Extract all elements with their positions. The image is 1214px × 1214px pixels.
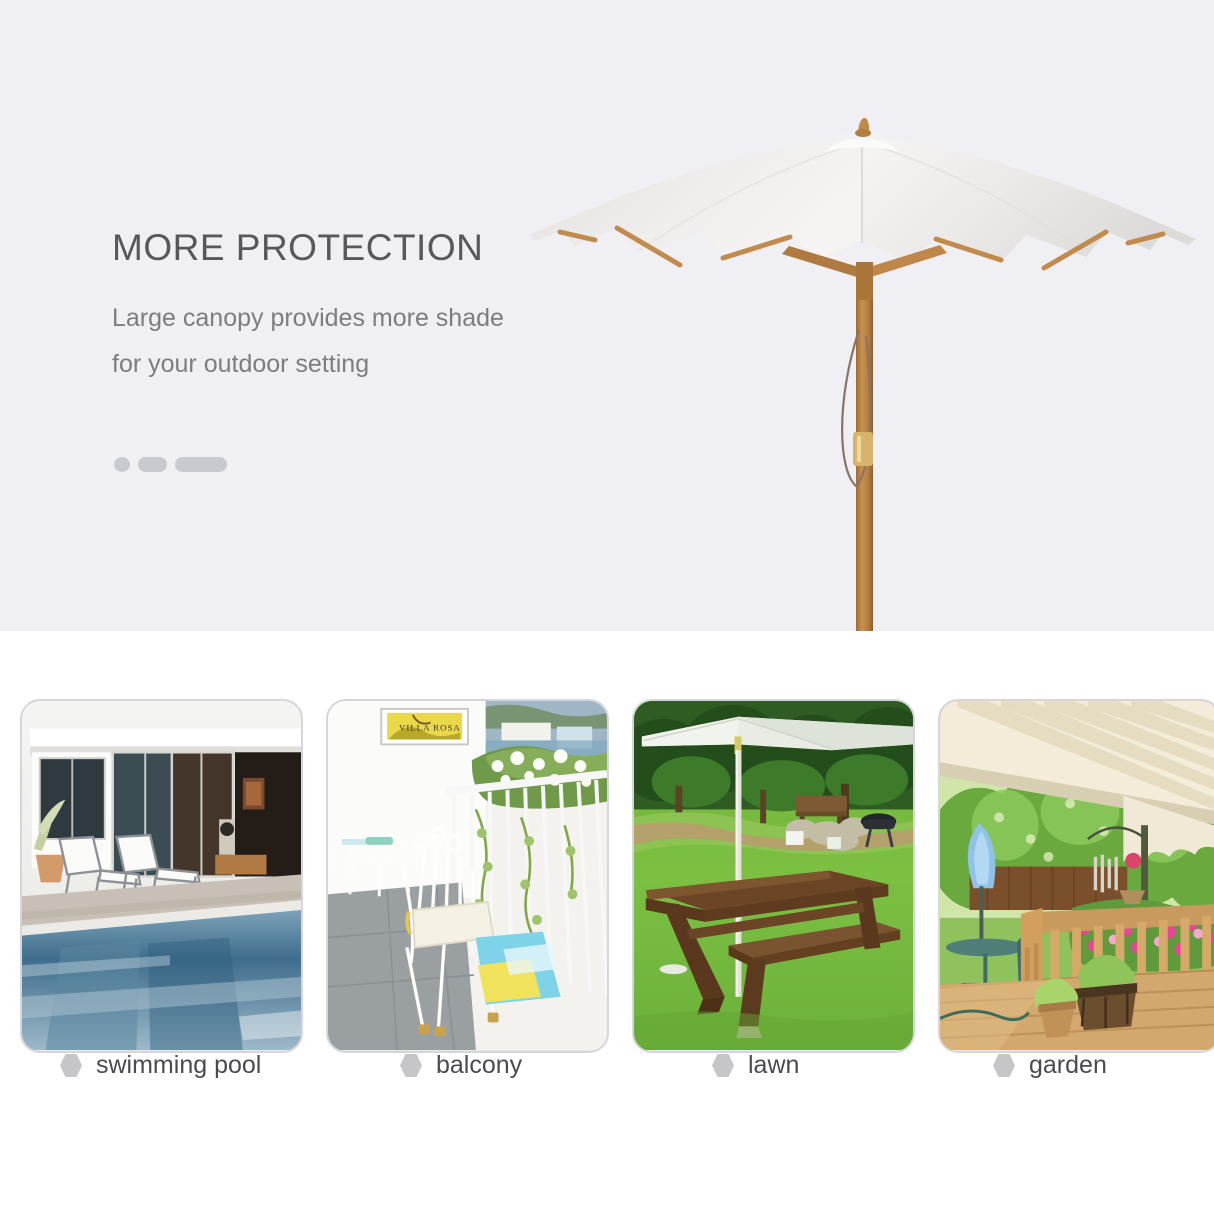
caption-garden: garden (993, 1051, 1107, 1080)
pip-large[interactable] (175, 457, 227, 472)
carousel-indicator[interactable] (114, 457, 227, 472)
hexagon-bullet-icon (712, 1053, 734, 1078)
hexagon-bullet-icon (993, 1053, 1015, 1078)
umbrella-hub-ribs (782, 245, 947, 300)
caption-label: garden (1029, 1051, 1107, 1080)
scene-balcony: VILLA ROSA (328, 701, 607, 1050)
thumbnail-card-balcony[interactable]: VILLA ROSA (326, 699, 609, 1053)
hero-subtitle-line-1: Large canopy provides more shade (112, 295, 632, 341)
caption-label: lawn (748, 1051, 799, 1080)
hero-subtitle: Large canopy provides more shade for you… (112, 295, 632, 388)
thumbnail-row: VILLA ROSA (20, 699, 1214, 1053)
hero-section: MORE PROTECTION Large canopy provides mo… (0, 0, 1214, 631)
hexagon-bullet-icon (400, 1053, 422, 1078)
svg-text:VILLA ROSA: VILLA ROSA (399, 723, 461, 733)
umbrella-finial (826, 118, 898, 152)
caption-row: swimming pool balcony lawn garden (0, 1051, 1214, 1111)
umbrella-pole (842, 300, 873, 631)
product-feature-page: MORE PROTECTION Large canopy provides mo… (0, 0, 1214, 1214)
scene-garden (940, 701, 1214, 1050)
caption-label: swimming pool (96, 1051, 261, 1080)
canopy-right (862, 137, 1196, 261)
scene-lawn (634, 701, 913, 1050)
pip-medium[interactable] (138, 457, 167, 472)
hero-subtitle-line-2: for your outdoor setting (112, 341, 632, 387)
caption-label: balcony (436, 1051, 522, 1080)
caption-swimming-pool: swimming pool (60, 1051, 261, 1080)
usage-gallery-section: VILLA ROSA (0, 631, 1214, 1214)
thumbnail-card-swimming-pool[interactable] (20, 699, 303, 1053)
pole-hardware-collar (853, 432, 873, 466)
scene-swimming-pool (22, 701, 301, 1050)
hexagon-bullet-icon (60, 1053, 82, 1078)
caption-balcony: balcony (400, 1051, 522, 1080)
thumbnail-card-lawn[interactable] (632, 699, 915, 1053)
pip-small[interactable] (114, 457, 130, 472)
caption-lawn: lawn (712, 1051, 799, 1080)
thumbnail-card-garden[interactable] (938, 699, 1214, 1053)
page-title: MORE PROTECTION (112, 228, 632, 269)
hero-copy: MORE PROTECTION Large canopy provides mo… (112, 228, 632, 387)
